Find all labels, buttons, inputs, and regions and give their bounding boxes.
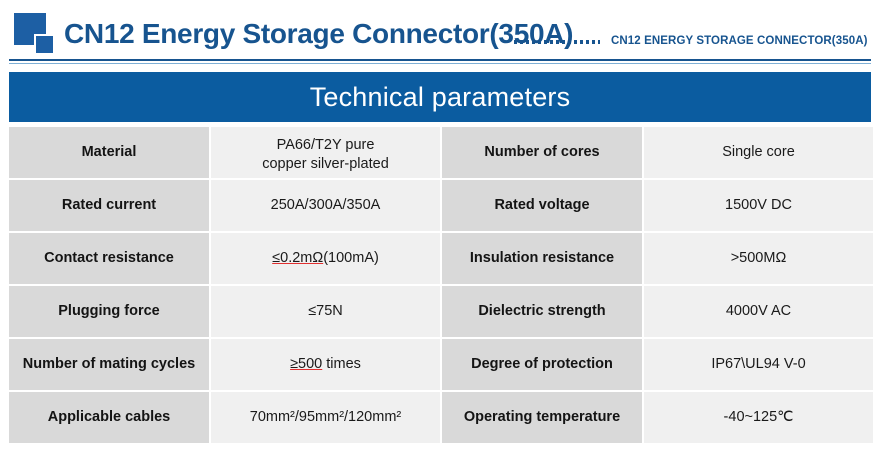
table-row: Plugging force≤75NDielectric strength400… [9, 286, 871, 337]
parameter-value: 70mm²/95mm²/120mm² [211, 392, 440, 443]
spellcheck-underlined-text: ≥500 [290, 356, 322, 372]
parameter-value: ≥500 times [211, 339, 440, 390]
spellcheck-underlined-text: ≤0.2mΩ [272, 250, 323, 266]
parameter-label: Number of cores [442, 127, 642, 178]
parameter-value: >500MΩ [644, 233, 873, 284]
table-row: Number of mating cycles≥500 timesDegree … [9, 339, 871, 390]
header-rule-primary [9, 59, 871, 61]
technical-parameters-table: MaterialPA66/T2Y purecopper silver-plate… [9, 127, 871, 445]
parameter-value-line: 70mm²/95mm²/120mm² [250, 408, 401, 427]
parameter-label: Dielectric strength [442, 286, 642, 337]
parameter-value-line: ≤75N [308, 302, 343, 321]
page-title: CN12 Energy Storage Connector(350A) [64, 18, 573, 50]
parameter-value: 4000V AC [644, 286, 873, 337]
parameter-value: ≤0.2mΩ(100mA) [211, 233, 440, 284]
parameter-value: Single core [644, 127, 873, 178]
parameter-label: Applicable cables [9, 392, 209, 443]
table-row: MaterialPA66/T2Y purecopper silver-plate… [9, 127, 871, 178]
parameter-value-line: PA66/T2Y pure [217, 136, 434, 155]
parameter-value-line: 250A/300A/350A [271, 196, 381, 215]
table-row: Rated current250A/300A/350ARated voltage… [9, 180, 871, 231]
logo-square-small-icon [34, 34, 55, 55]
section-banner-title: Technical parameters [310, 82, 571, 113]
table-row: Contact resistance≤0.2mΩ(100mA)Insulatio… [9, 233, 871, 284]
parameter-label: Rated voltage [442, 180, 642, 231]
parameter-value-line: copper silver-plated [217, 155, 434, 174]
parameter-label: Operating temperature [442, 392, 642, 443]
parameter-value: -40~125℃ [644, 392, 873, 443]
page-subtitle: CN12 ENERGY STORAGE CONNECTOR(350A) [611, 35, 868, 47]
parameter-label: Degree of protection [442, 339, 642, 390]
parameter-label: Contact resistance [9, 233, 209, 284]
section-banner: Technical parameters [9, 72, 871, 122]
header-rule-secondary [9, 63, 871, 64]
parameter-value: IP67\UL94 V-0 [644, 339, 873, 390]
company-logo [14, 13, 62, 55]
parameter-label: Plugging force [9, 286, 209, 337]
parameter-label: Insulation resistance [442, 233, 642, 284]
parameter-value: PA66/T2Y purecopper silver-plated [211, 127, 440, 178]
parameter-value: 250A/300A/350A [211, 180, 440, 231]
parameter-label: Rated current [9, 180, 209, 231]
parameter-label: Material [9, 127, 209, 178]
table-row: Applicable cables70mm²/95mm²/120mm²Opera… [9, 392, 871, 443]
dotted-divider-icon [514, 40, 600, 44]
parameter-value: ≤75N [211, 286, 440, 337]
page-header: CN12 Energy Storage Connector(350A) CN12… [0, 0, 880, 66]
parameter-value: 1500V DC [644, 180, 873, 231]
parameter-value-line: ≥500 times [290, 355, 361, 374]
parameter-value-line: ≤0.2mΩ(100mA) [272, 249, 379, 268]
parameter-label: Number of mating cycles [9, 339, 209, 390]
